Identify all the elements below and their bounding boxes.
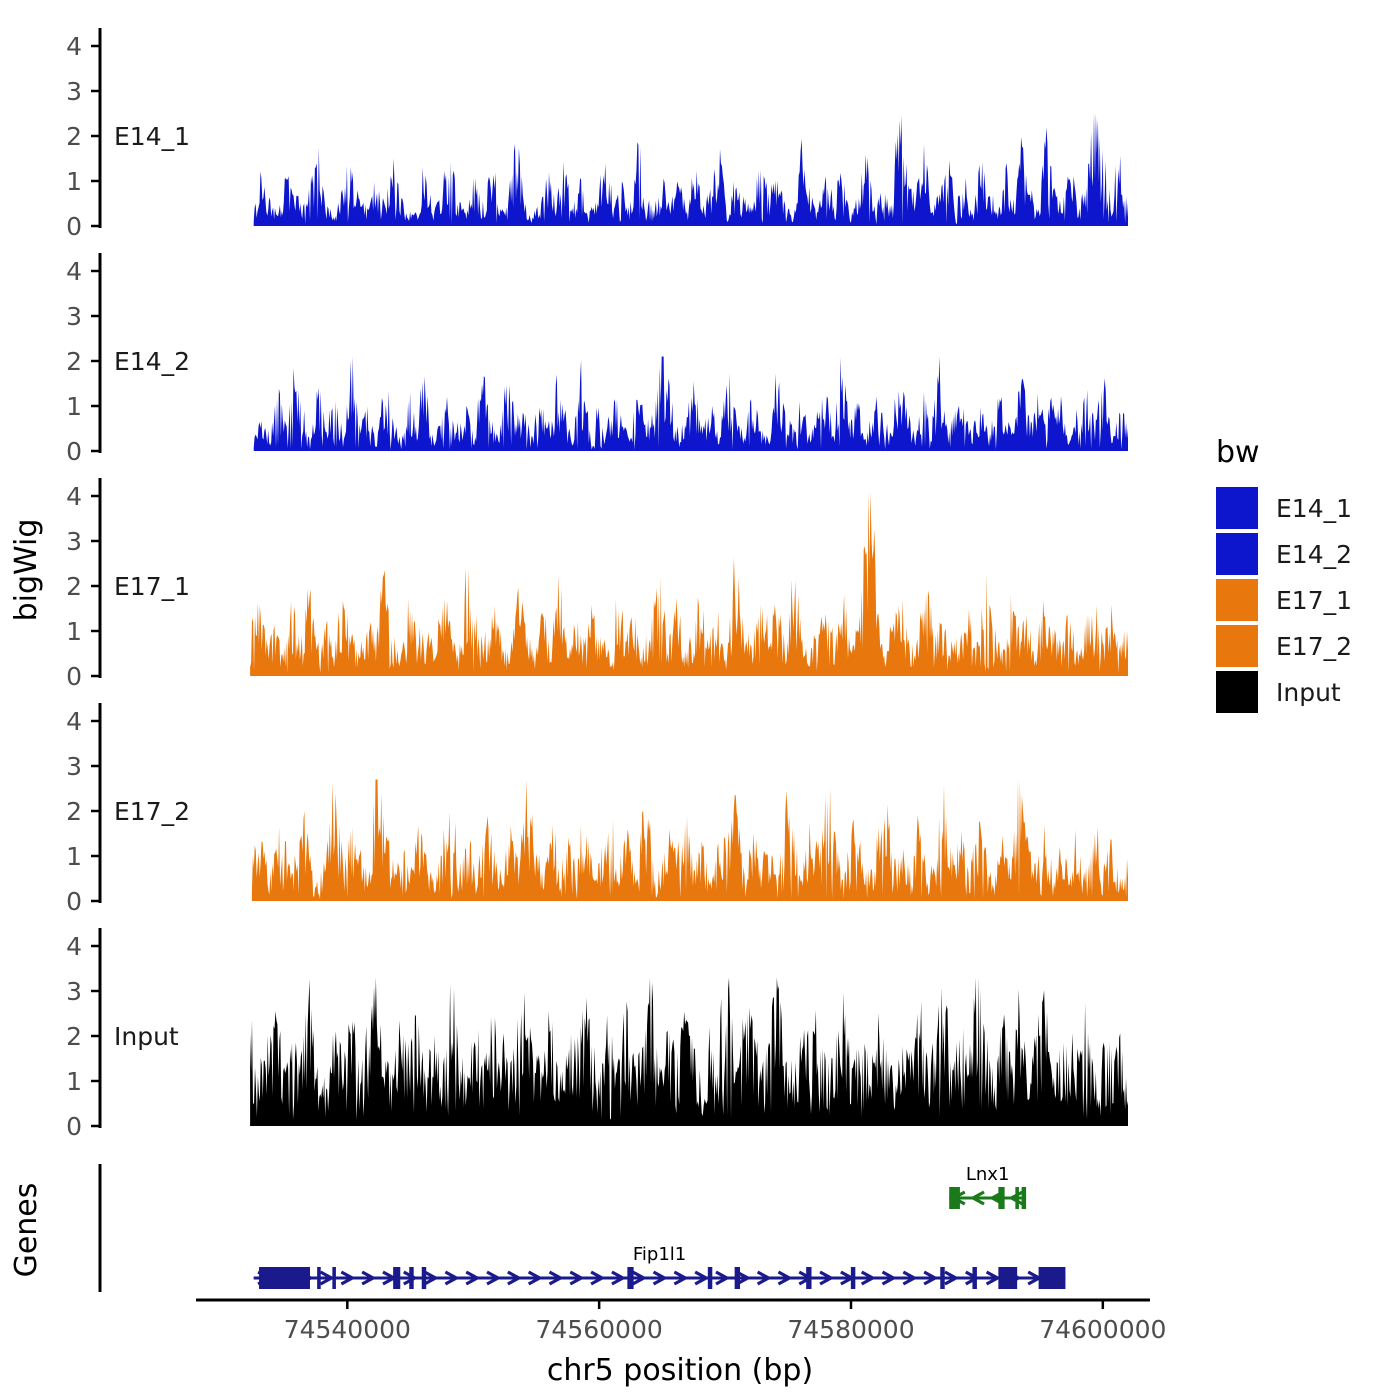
x-tick-label: 74600000 <box>1039 1315 1166 1344</box>
gene-exon-block <box>1039 1267 1066 1289</box>
gene-exon-block <box>998 1267 1017 1289</box>
legend-item-e17_1[interactable]: E17_1 <box>1216 579 1352 621</box>
y-tick-label: 4 <box>66 482 82 511</box>
gene-exon-block <box>317 1267 321 1289</box>
y-tick-label: 2 <box>66 347 82 376</box>
gene-exon-block <box>393 1267 400 1289</box>
legend: bwE14_1E14_2E17_1E17_2Input <box>1216 435 1352 713</box>
legend-swatch <box>1216 625 1258 667</box>
legend-item-e14_2[interactable]: E14_2 <box>1216 533 1352 575</box>
genes-panel: Lnx1Fip1l1 <box>100 1164 1065 1292</box>
y-tick-label: 0 <box>66 1112 82 1141</box>
y-tick-label: 4 <box>66 257 82 286</box>
y-tick-label: 2 <box>66 122 82 151</box>
gene-exon-block <box>332 1267 336 1289</box>
track-panel-input: 01234Input <box>66 928 1128 1141</box>
gene-exon-block <box>940 1267 944 1289</box>
y-tick-label: 0 <box>66 437 82 466</box>
y-tick-label: 0 <box>66 662 82 691</box>
legend-label: Input <box>1276 678 1341 707</box>
y-tick-label: 4 <box>66 707 82 736</box>
legend-label: E17_2 <box>1276 632 1352 661</box>
gene-name-label: Fip1l1 <box>633 1244 686 1265</box>
legend-label: E14_2 <box>1276 540 1352 569</box>
track-panel-e14_2: 01234E14_2 <box>66 253 1128 466</box>
y-tick-label: 3 <box>66 977 82 1006</box>
gene-exon-block <box>259 1267 310 1289</box>
y-tick-label: 3 <box>66 77 82 106</box>
y-tick-label: 4 <box>66 32 82 61</box>
genome-browser-figure: 01234E14_101234E14_201234E17_101234E17_2… <box>0 0 1400 1400</box>
legend-item-input[interactable]: Input <box>1216 671 1341 713</box>
gene-exon-block <box>735 1267 740 1289</box>
track-panel-e14_1: 01234E14_1 <box>66 28 1128 241</box>
legend-swatch <box>1216 671 1258 713</box>
y-tick-label: 1 <box>66 617 82 646</box>
y-tick-label: 3 <box>66 527 82 556</box>
x-tick-label: 74580000 <box>787 1315 914 1344</box>
y-tick-label: 3 <box>66 752 82 781</box>
gene-exon-block <box>851 1267 855 1289</box>
y-tick-label: 1 <box>66 392 82 421</box>
gene-exon-block <box>1022 1187 1026 1209</box>
gene-exon-block <box>409 1267 413 1289</box>
y-tick-label: 1 <box>66 842 82 871</box>
legend-label: E14_1 <box>1276 494 1352 523</box>
track-name-label: E14_1 <box>114 122 190 151</box>
gene-fip1l1[interactable]: Fip1l1 <box>254 1244 1066 1289</box>
track-panel-e17_1: 01234E17_1 <box>66 478 1128 691</box>
gene-exon-block <box>627 1267 633 1289</box>
gene-exon-block <box>806 1267 811 1289</box>
y-axis-title-genes: Genes <box>9 1183 44 1278</box>
x-tick-label: 74560000 <box>536 1315 663 1344</box>
gene-name-label: Lnx1 <box>966 1164 1010 1185</box>
gene-exon-block <box>998 1187 1004 1209</box>
x-axis: 74540000745600007458000074600000 <box>196 1300 1166 1344</box>
y-tick-label: 0 <box>66 212 82 241</box>
y-tick-label: 2 <box>66 797 82 826</box>
legend-item-e14_1[interactable]: E14_1 <box>1216 487 1352 529</box>
coverage-area-e14_2 <box>254 357 1128 452</box>
track-name-label: E14_2 <box>114 347 190 376</box>
legend-title: bw <box>1216 435 1260 470</box>
gene-exon-block <box>422 1267 426 1289</box>
coverage-area-e17_1 <box>250 492 1128 677</box>
x-axis-title: chr5 position (bp) <box>547 1353 813 1388</box>
track-name-label: Input <box>114 1022 179 1051</box>
y-tick-label: 2 <box>66 1022 82 1051</box>
x-tick-label: 74540000 <box>284 1315 411 1344</box>
coverage-area-e17_2 <box>252 780 1128 902</box>
gene-exon-block <box>708 1267 712 1289</box>
y-tick-label: 1 <box>66 167 82 196</box>
y-axis-title-bigwig: bigWig <box>9 519 44 622</box>
y-tick-label: 4 <box>66 932 82 961</box>
track-name-label: E17_1 <box>114 572 190 601</box>
bigwig-panels: 01234E14_101234E14_201234E17_101234E17_2… <box>66 28 1128 1141</box>
legend-item-e17_2[interactable]: E17_2 <box>1216 625 1352 667</box>
legend-swatch <box>1216 533 1258 575</box>
coverage-area-input <box>250 978 1128 1127</box>
gene-exon-block <box>1015 1187 1019 1209</box>
y-tick-label: 3 <box>66 302 82 331</box>
track-panel-e17_2: 01234E17_2 <box>66 703 1128 916</box>
track-name-label: E17_2 <box>114 797 190 826</box>
y-tick-label: 0 <box>66 887 82 916</box>
legend-label: E17_1 <box>1276 586 1352 615</box>
y-tick-label: 2 <box>66 572 82 601</box>
gene-exon-block <box>949 1187 960 1209</box>
legend-swatch <box>1216 487 1258 529</box>
y-tick-label: 1 <box>66 1067 82 1096</box>
gene-exon-block <box>972 1267 976 1289</box>
figure-canvas: 01234E14_101234E14_201234E17_101234E17_2… <box>0 0 1400 1400</box>
legend-swatch <box>1216 579 1258 621</box>
gene-lnx1[interactable]: Lnx1 <box>949 1164 1026 1209</box>
coverage-area-e14_1 <box>254 114 1128 227</box>
